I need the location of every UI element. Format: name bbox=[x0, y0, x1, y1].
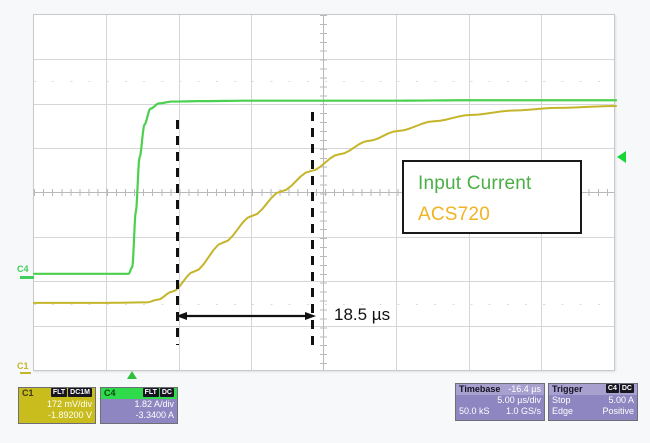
c1-chip-flt: FLT bbox=[51, 388, 67, 397]
c4-chip-dc: DC bbox=[160, 388, 174, 397]
trigger-state: Stop bbox=[552, 395, 571, 406]
legend-label-input-current: Input Current bbox=[418, 168, 580, 199]
channel-marker-c4-bar[interactable] bbox=[20, 276, 34, 279]
oscilloscope-screenshot: 18.5 µs Input Current ACS720 C4 C1 C1 FL… bbox=[0, 0, 650, 443]
c1-scale-line: 172 mV/div bbox=[19, 399, 95, 410]
channel-marker-c1[interactable]: C1 bbox=[17, 362, 29, 371]
c1-offset: -1.89200 V bbox=[48, 410, 92, 421]
c4-coupling-chips: FLTDC bbox=[142, 388, 174, 399]
c4-name: C4 bbox=[104, 388, 116, 399]
c4-chip-flt: FLT bbox=[143, 388, 159, 397]
trigger-panel[interactable]: Trigger C4DC Stop 5.00 A Edge Positive bbox=[548, 383, 638, 421]
channel-descriptor-c1[interactable]: C1 FLTDC1M 172 mV/div -1.89200 V bbox=[18, 387, 96, 424]
c1-offset-line: -1.89200 V bbox=[19, 410, 95, 421]
c4-offset: -3.3400 A bbox=[135, 410, 174, 421]
timebase-delay: -16.4 µs bbox=[508, 384, 541, 395]
channel-marker-c4[interactable]: C4 bbox=[17, 265, 29, 274]
channel-marker-c1-bar[interactable] bbox=[20, 372, 31, 374]
trigger-title: Trigger bbox=[552, 384, 583, 395]
timebase-panel[interactable]: Timebase -16.4 µs 5.00 µs/div 50.0 kS 1.… bbox=[455, 383, 545, 421]
waveform-graticule[interactable]: 18.5 µs Input Current ACS720 bbox=[33, 14, 615, 371]
timebase-acq-line: 50.0 kS 1.0 GS/s bbox=[456, 406, 544, 417]
timebase-scale-line: 5.00 µs/div bbox=[456, 395, 544, 406]
timebase-sample-rate: 1.0 GS/s bbox=[506, 406, 541, 417]
channel-descriptor-c4[interactable]: C4 FLTDC 1.82 A/div -3.3400 A bbox=[100, 387, 178, 424]
c1-coupling-chips: FLTDC1M bbox=[50, 388, 92, 399]
trigger-header: Trigger C4DC bbox=[549, 384, 637, 395]
trigger-slope: Positive bbox=[602, 406, 634, 417]
delta-arrow bbox=[176, 310, 316, 322]
legend-box: Input Current ACS720 bbox=[402, 160, 582, 234]
trigger-time-marker-icon[interactable] bbox=[127, 371, 137, 379]
trigger-chip-source: C4 bbox=[606, 384, 619, 393]
c1-name: C1 bbox=[22, 388, 34, 399]
c4-scale-line: 1.82 A/div bbox=[101, 399, 177, 410]
trigger-type: Edge bbox=[552, 406, 573, 417]
c1-scale: 172 mV/div bbox=[47, 399, 92, 410]
trigger-chip-coupling: DC bbox=[620, 384, 634, 393]
trigger-state-line: Stop 5.00 A bbox=[549, 395, 637, 406]
c4-header: C4 FLTDC bbox=[101, 388, 177, 399]
timebase-header: Timebase -16.4 µs bbox=[456, 384, 544, 395]
legend-label-acs720: ACS720 bbox=[418, 199, 580, 230]
timebase-scale: 5.00 µs/div bbox=[497, 395, 541, 406]
c4-offset-line: -3.3400 A bbox=[101, 410, 177, 421]
timebase-title: Timebase bbox=[459, 384, 500, 395]
c1-header: C1 FLTDC1M bbox=[19, 388, 95, 399]
delta-time-label: 18.5 µs bbox=[334, 305, 390, 325]
trigger-level-marker-icon[interactable] bbox=[617, 151, 626, 163]
trigger-type-line: Edge Positive bbox=[549, 406, 637, 417]
trigger-level: 5.00 A bbox=[608, 395, 634, 406]
trigger-source-chips: C4DC bbox=[605, 384, 634, 395]
timebase-memory: 50.0 kS bbox=[459, 406, 490, 417]
c1-chip-dc1m: DC1M bbox=[68, 388, 92, 397]
c4-scale: 1.82 A/div bbox=[134, 399, 174, 410]
